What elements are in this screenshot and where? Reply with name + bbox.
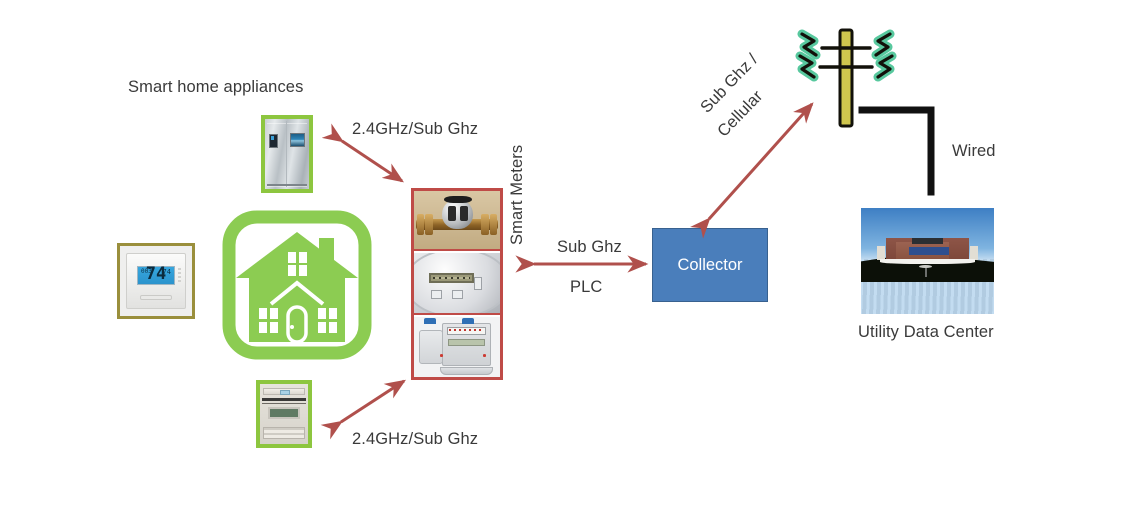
diagram-canvas: Smart home appliances 2.4GHz/Sub Ghz 2.4…	[0, 0, 1146, 510]
smart-meters-group	[411, 188, 503, 380]
gas-meter-icon	[414, 317, 500, 377]
plc-label: PLC	[570, 278, 602, 297]
connector-refrigerator-meters	[342, 141, 402, 181]
thermostat-icon: 003 74 74	[117, 243, 195, 319]
sub-ghz-label: Sub Ghz	[557, 238, 622, 257]
thermostat-reading: 74	[127, 266, 184, 283]
collector-label: Collector	[677, 256, 742, 275]
data-center-photo	[861, 208, 994, 314]
wired-label: Wired	[952, 142, 996, 161]
smart-home-appliances-label: Smart home appliances	[128, 78, 303, 97]
oven-icon	[256, 380, 312, 448]
connector-oven-meters	[341, 381, 404, 422]
water-meter-icon	[414, 191, 500, 251]
cell-tower-icon	[786, 12, 906, 130]
utility-data-center-label: Utility Data Center	[858, 323, 994, 342]
house-icon	[222, 210, 372, 360]
electric-meter-icon	[414, 253, 500, 315]
link-label-top-24ghz: 2.4GHz/Sub Ghz	[352, 120, 478, 139]
link-label-bottom-24ghz: 2.4GHz/Sub Ghz	[352, 430, 478, 449]
collector-box[interactable]: Collector	[652, 228, 768, 302]
refrigerator-icon	[261, 115, 313, 193]
smart-meters-label: Smart Meters	[508, 145, 527, 245]
